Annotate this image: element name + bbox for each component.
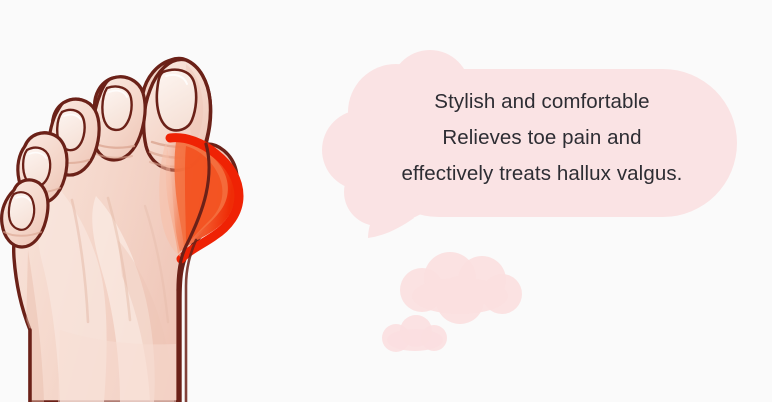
thought-bubble-text: Stylish and comfortable Relieves toe pai… — [352, 84, 732, 192]
bubble-line-2: Relieves toe pain and — [352, 120, 732, 156]
bubble-line-1: Stylish and comfortable — [352, 84, 732, 120]
bubble-line-3: effectively treats hallux valgus. — [352, 156, 732, 192]
thought-puff-small — [382, 315, 447, 352]
product-feature-banner: Stylish and comfortable Relieves toe pai… — [0, 0, 772, 402]
thought-puff-large — [400, 252, 522, 324]
bunion-foot-illustration — [0, 0, 290, 402]
